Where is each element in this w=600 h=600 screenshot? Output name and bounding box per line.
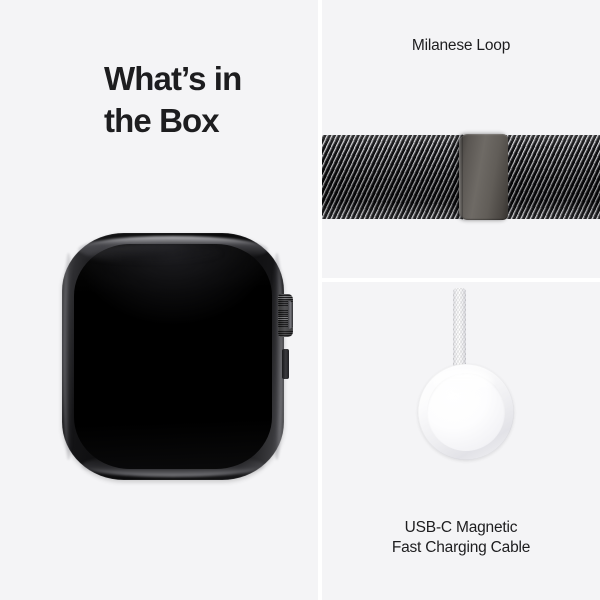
watch-screen-reflection: [84, 244, 222, 263]
braided-cable-cord: [453, 288, 466, 374]
watch-side-button: [282, 349, 289, 379]
panel-watch: What’s in the Box: [0, 0, 318, 600]
digital-crown-cap: [288, 301, 294, 329]
charging-puck: [418, 364, 514, 460]
milanese-magnetic-clasp: [459, 134, 508, 220]
charging-puck-highlight: [432, 370, 494, 396]
watch-display-screen: [74, 244, 273, 469]
caption-milanese-loop: Milanese Loop: [322, 36, 600, 56]
product-box-contents-page: What’s in the Box Milanese Loop: [0, 0, 600, 600]
page-title: What’s in the Box: [104, 58, 304, 141]
watch-left-edge-highlight: [63, 253, 74, 460]
clasp-edge-highlight: [459, 134, 463, 220]
apple-watch-image: [62, 233, 284, 480]
milanese-loop-image: [322, 135, 600, 219]
caption-usb-c-magnetic-fast-charging-cable: USB-C Magnetic Fast Charging Cable: [322, 518, 600, 559]
